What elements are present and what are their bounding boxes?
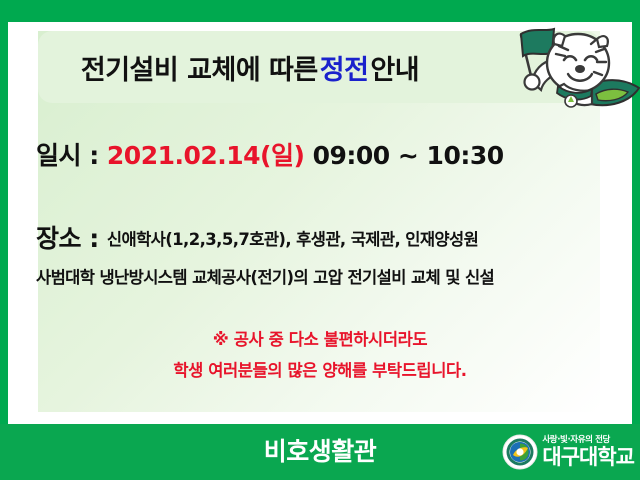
date-label: 일시 : (36, 141, 107, 170)
logo-wordmark: 사랑·빛·자유의 전당 대구대학교 (542, 436, 634, 468)
footer-bar: 비호생활관 사랑·빛·자유의 전당 대구대학교 (0, 424, 640, 480)
university-logo: 사랑·빛·자유의 전당 대구대학교 (502, 433, 634, 471)
place-value: 신애학사(1,2,3,5,7호관), 후생관, 국제관, 인재양성원 (107, 230, 478, 249)
place-label: 장소 : (36, 224, 107, 253)
university-seal-icon (502, 434, 538, 470)
time-range: 09:00 ~ 10:30 (304, 141, 503, 170)
title-part-2: 안내 (370, 48, 419, 87)
notice-line-2: 학생 여러분들의 많은 양해를 부탁드립니다. (0, 357, 640, 381)
logo-university-name: 대구대학교 (542, 447, 634, 468)
date-value: 2021.02.14(일) (107, 141, 305, 170)
title-highlight: 정전 (320, 48, 369, 87)
poster-notice: 전기설비 교체에 따른 정전 안내 (0, 0, 640, 480)
notice-line-1: ※ 공사 중 다소 불편하시더라도 (0, 326, 640, 350)
detail-line: 사범대학 냉난방시스템 교체공사(전기)의 고압 전기설비 교체 및 신설 (36, 264, 494, 288)
title-part-1: 전기설비 교체에 따른 (81, 48, 318, 87)
date-line: 일시 : 2021.02.14(일) 09:00 ~ 10:30 (36, 136, 504, 172)
logo-tagline: 사랑·빛·자유의 전당 (542, 436, 634, 445)
place-line: 장소 : 신애학사(1,2,3,5,7호관), 후생관, 국제관, 인재양성원 (36, 219, 478, 255)
page-title: 전기설비 교체에 따른 정전 안내 (0, 31, 500, 103)
